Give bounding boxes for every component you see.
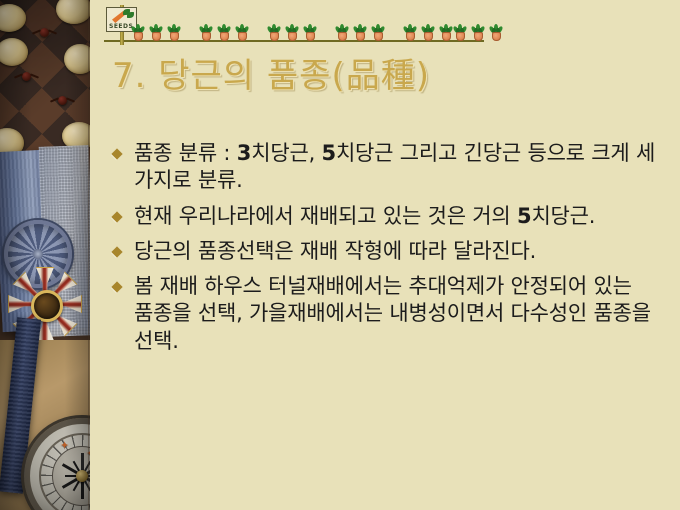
game-piece-icon (40, 28, 49, 37)
game-piece-icon (22, 72, 31, 81)
carrot-group (200, 24, 248, 41)
carrot-icon (150, 24, 162, 41)
coin-icon (64, 44, 90, 74)
list-item: 당근의 품종선택은 재배 작형에 따라 달라진다. (110, 238, 672, 265)
diamond-bullet-icon (111, 246, 122, 257)
carrot-icon (268, 24, 280, 41)
carrot-icon (236, 24, 248, 41)
diamond-bullet-icon (111, 148, 122, 159)
bullet-text: 품종 분류 : 3치당근, 5치당근 그리고 긴당근 등으로 크게 세 가지로 … (134, 141, 655, 192)
diamond-bullet-icon (111, 282, 122, 293)
carrot-icon (304, 24, 316, 41)
carrot-icon (168, 24, 180, 41)
carrot-group (268, 24, 316, 41)
carrot-banner: SEEDS (104, 4, 504, 46)
strip-edge-divider (88, 0, 90, 510)
carrot-icon (200, 24, 212, 41)
bullet-text: 당근의 품종선택은 재배 작형에 따라 달라진다. (134, 239, 536, 263)
carrot-icon (372, 24, 384, 41)
carrot-icon (354, 24, 366, 41)
carrot-icon (490, 24, 502, 41)
bullet-list: 품종 분류 : 3치당근, 5치당근 그리고 긴당근 등으로 크게 세 가지로 … (110, 140, 672, 363)
presentation-slide: ✦ ✦ SEEDS (0, 0, 680, 510)
carrot-icon (454, 24, 466, 41)
slide-title: 7. 당근의 품종(品種) (112, 56, 652, 96)
game-piece-icon (58, 96, 67, 105)
sign-label: SEEDS (109, 23, 133, 30)
carrot-group (454, 24, 502, 41)
carrot-icon (286, 24, 298, 41)
carrot-icon (336, 24, 348, 41)
carrot-icon (422, 24, 434, 41)
carrot-icon (440, 24, 452, 41)
bullet-text: 봄 재배 하우스 터널재배에서는 추대억제가 안정되어 있는 품종을 선택, 가… (134, 274, 651, 353)
carrot-group (336, 24, 384, 41)
carrot-group (404, 24, 452, 41)
carrot-icon (132, 24, 144, 41)
carrot-icon (218, 24, 230, 41)
carrot-icon (404, 24, 416, 41)
bullet-text: 현재 우리나라에서 재배되고 있는 것은 거의 5치당근. (134, 204, 595, 228)
carrot-group (132, 24, 180, 41)
diamond-bullet-icon (111, 211, 122, 222)
carrot-icon (472, 24, 484, 41)
list-item: 현재 우리나라에서 재배되고 있는 것은 거의 5치당근. (110, 203, 672, 230)
list-item: 봄 재배 하우스 터널재배에서는 추대억제가 안정되어 있는 품종을 선택, 가… (110, 273, 672, 355)
decorative-photo-border: ✦ ✦ (0, 0, 90, 510)
list-item: 품종 분류 : 3치당근, 5치당근 그리고 긴당근 등으로 크게 세 가지로 … (110, 140, 672, 195)
